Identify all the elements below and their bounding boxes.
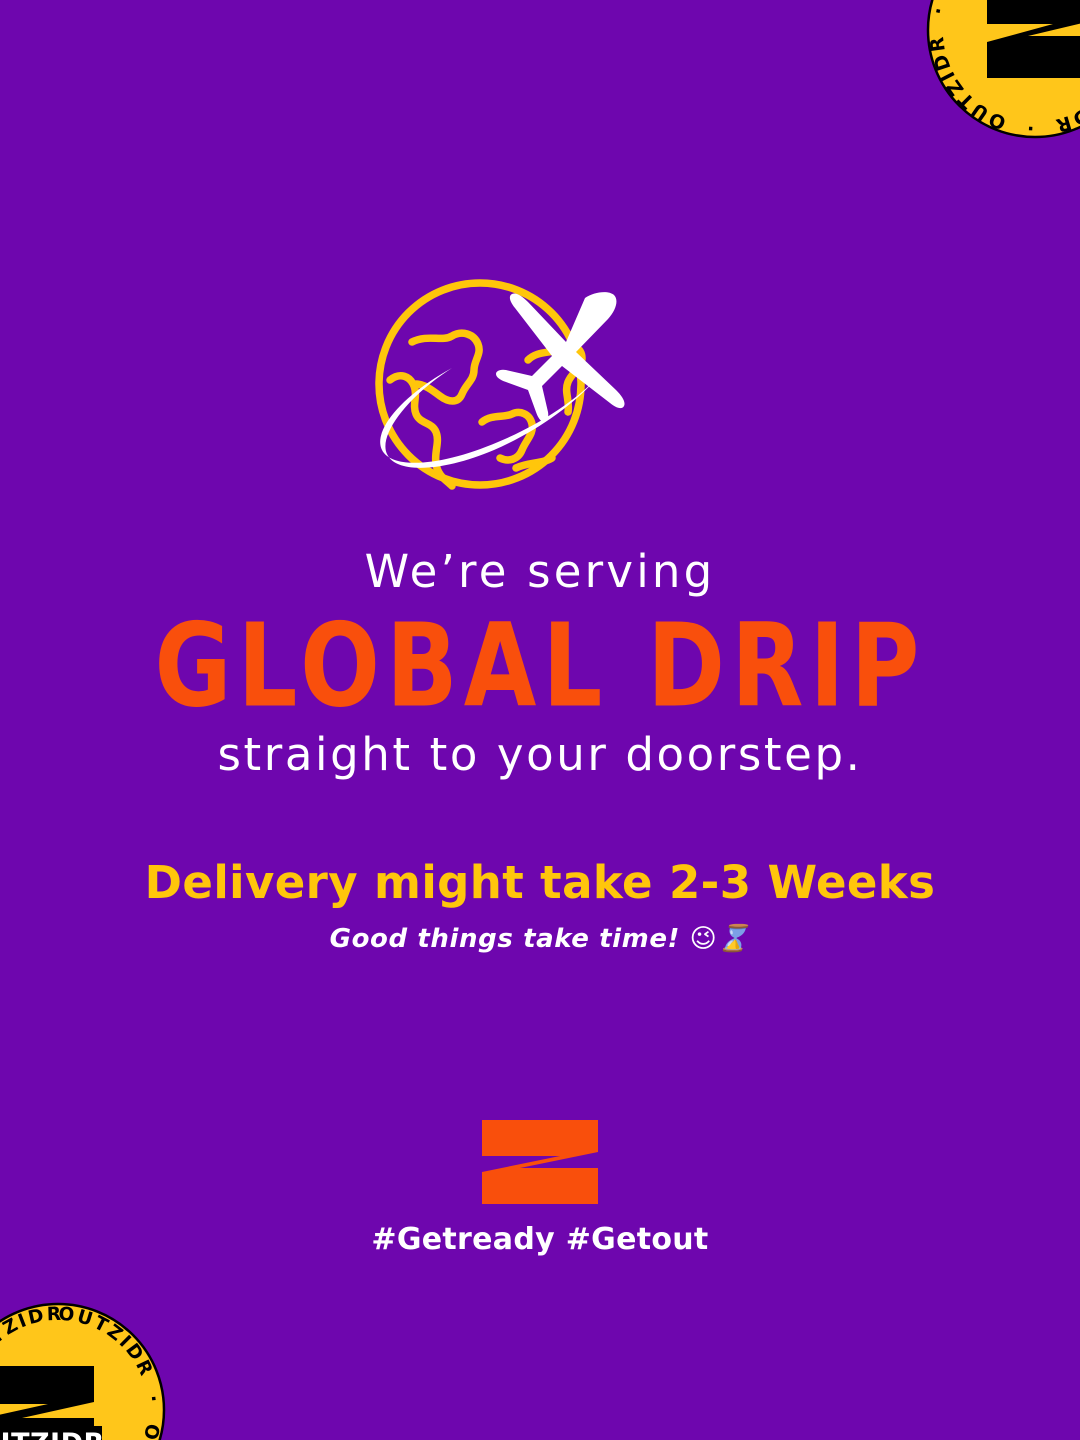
- badge-z-mark: [987, 0, 1080, 78]
- delivery-note: Delivery might take 2-3 Weeks: [0, 859, 1080, 906]
- outzidr-z-logo[interactable]: [478, 1118, 602, 1206]
- promo-poster: OUTZIDR · OUTZIDR · OUTZIDR · OUTZIDR · …: [0, 0, 1080, 1440]
- continent-north: [412, 333, 479, 401]
- outzidr-badge-top-right: OUTZIDR · OUTZIDR · OUTZIDR · OUTZIDR · …: [925, 0, 1080, 140]
- footer-block: #Getready #Getout: [0, 1118, 1080, 1257]
- subnote: Good things take time! 😉⌛: [0, 924, 1080, 955]
- continent-south: [482, 412, 532, 459]
- serving-line: We’re serving: [0, 548, 1080, 595]
- hashtags: #Getready #Getout: [0, 1222, 1080, 1257]
- badge-center-wordmark: OUTZIDR: [0, 1426, 105, 1440]
- svg-text:OUTZIDR: OUTZIDR: [0, 1428, 105, 1440]
- globe-icon: [379, 283, 582, 486]
- continent-oceania: [516, 458, 552, 468]
- airplane-icon: [496, 292, 625, 422]
- copy-block: We’re serving GLOBAL DRIP straight to yo…: [0, 548, 1080, 955]
- headline: GLOBAL DRIP: [0, 609, 1080, 724]
- doorstep-line: straight to your doorstep.: [0, 731, 1080, 778]
- hero-illustration: [0, 272, 1080, 502]
- outzidr-badge-bottom-left: OUTZIDR · OUTZIDR · OUTZIDR · OUTZIDR · …: [0, 1300, 160, 1440]
- z-logo-shape: [482, 1120, 598, 1204]
